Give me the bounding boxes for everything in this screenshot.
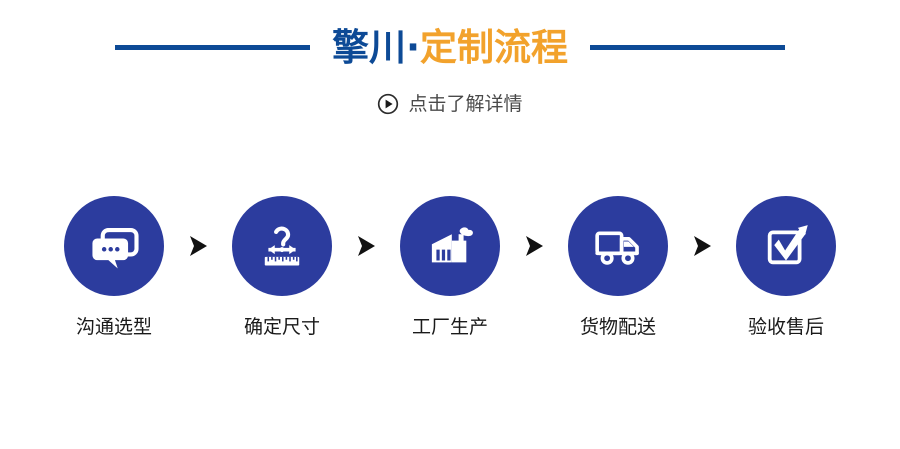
page-title-brand: 擎川	[332, 26, 406, 69]
subtitle-row[interactable]: 点击了解详情	[0, 90, 900, 118]
title-rule-left	[115, 45, 310, 50]
flow-step-2[interactable]: 确定尺寸	[218, 196, 346, 337]
subtitle-text: 点击了解详情	[408, 95, 522, 114]
flow-step-3-label: 工厂生产	[412, 318, 488, 337]
delivery-truck-icon	[589, 217, 647, 275]
flow-step-1[interactable]: 沟通选型	[50, 196, 178, 337]
page-header: 擎川·定制流程 点击了解详情	[0, 0, 900, 118]
flow-step-1-label: 沟通选型	[76, 318, 152, 337]
ruler-measure-question-icon	[253, 217, 311, 275]
flow-arrow-3	[514, 196, 554, 296]
flow-arrow-2	[346, 196, 386, 296]
flow-step-1-circle[interactable]	[64, 196, 164, 296]
title-row: 擎川·定制流程	[0, 22, 900, 72]
play-circle-icon[interactable]	[377, 93, 399, 115]
checkbox-check-icon	[757, 217, 815, 275]
flow-arrow-1	[178, 196, 218, 296]
factory-icon	[421, 217, 479, 275]
flow-step-3-circle[interactable]	[400, 196, 500, 296]
flow-arrow-4	[682, 196, 722, 296]
flow-step-4-label: 货物配送	[580, 318, 656, 337]
flow-step-3[interactable]: 工厂生产	[386, 196, 514, 337]
page-title-separator: ·	[406, 26, 420, 69]
flow-step-5[interactable]: 验收售后	[722, 196, 850, 337]
title-rule-right	[590, 45, 785, 50]
flow-step-2-circle[interactable]	[232, 196, 332, 296]
flow-step-5-label: 验收售后	[748, 318, 824, 337]
page-title-accent: 定制流程	[420, 26, 568, 69]
page-title: 擎川·定制流程	[332, 29, 568, 66]
flow-step-2-label: 确定尺寸	[244, 318, 320, 337]
flow-step-4-circle[interactable]	[568, 196, 668, 296]
process-flow: 沟通选型	[0, 196, 900, 337]
flow-step-4[interactable]: 货物配送	[554, 196, 682, 337]
flow-step-5-circle[interactable]	[736, 196, 836, 296]
chat-bubbles-icon	[84, 216, 144, 276]
